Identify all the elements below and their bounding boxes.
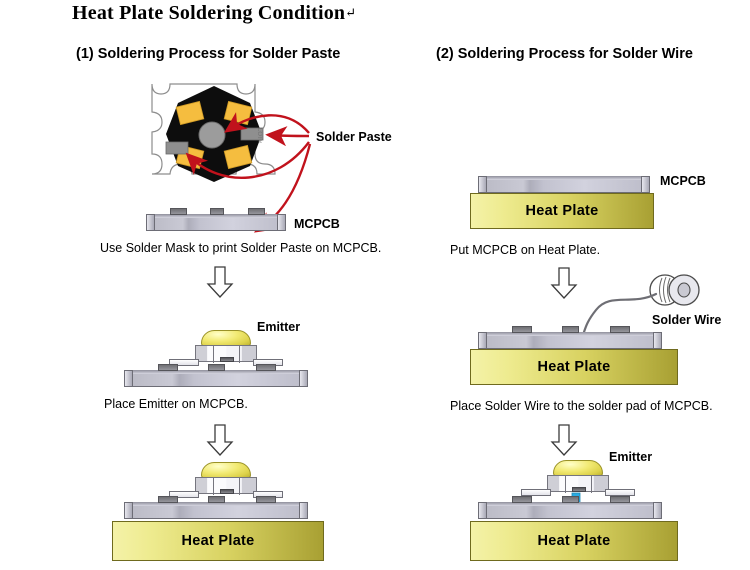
mcpcb-edge-left — [124, 502, 133, 519]
solder-wire-label: Solder Wire — [652, 313, 721, 327]
star-mcpcb-top-view-icon: LOT# — [146, 78, 282, 190]
mcpcb-solder-pad — [562, 326, 579, 333]
mcpcb-solder-pad — [610, 326, 630, 333]
mcpcb-edge-left — [478, 332, 487, 349]
mcpcb-label-r-step1: MCPCB — [660, 174, 706, 188]
mcpcb-solder-pad — [256, 364, 276, 371]
mcpcb-edge-right — [641, 176, 650, 193]
mcpcb-solder-pad — [158, 496, 178, 503]
heat-plate-label: Heat Plate — [525, 203, 598, 219]
pilcrow-mark: ↵ — [345, 5, 356, 20]
heat-plate-label: Heat Plate — [537, 359, 610, 375]
mcpcb-edge-left — [478, 502, 487, 519]
mcpcb-solder-pad — [158, 364, 178, 371]
column-1-heading: (1) Soldering Process for Solder Paste — [76, 46, 340, 62]
mcpcb-solder-pad — [256, 496, 276, 503]
mcpcb-solder-pad — [512, 326, 532, 333]
column-2-heading: (2) Soldering Process for Solder Wire — [436, 46, 693, 62]
mcpcb-solder-pad — [512, 496, 532, 503]
heat-plate-r-step1: Heat Plate — [470, 193, 654, 229]
mcpcb-top-strip — [479, 176, 649, 180]
caption-step1-col2: Put MCPCB on Heat Plate. — [450, 243, 600, 257]
caption-step1-col1: Use Solder Mask to print Solder Paste on… — [100, 241, 381, 255]
mcpcb-solder-pad — [562, 496, 579, 503]
heat-plate-label: Heat Plate — [181, 533, 254, 549]
emitter-lead-left — [521, 489, 551, 496]
mcpcb-edge-right — [299, 370, 308, 387]
mcpcb-edge-right — [277, 214, 286, 231]
emitter-thermal-pad — [220, 357, 234, 362]
caption-step2-col1: Place Emitter on MCPCB. — [104, 397, 248, 411]
mcpcb-solder-pad — [170, 208, 187, 215]
mcpcb-edge-left — [478, 176, 487, 193]
emitter-thermal-pad — [220, 489, 234, 494]
mcpcb-cross-section-r-step3 — [478, 496, 662, 522]
mcpcb-cross-section-step1 — [146, 208, 286, 234]
heat-plate-r-step3: Heat Plate — [470, 521, 678, 561]
flow-arrow-icon — [549, 423, 579, 457]
mcpcb-solder-pad — [208, 364, 225, 371]
svg-text:LOT#: LOT# — [256, 128, 262, 144]
heat-plate-step3-col1: Heat Plate — [112, 521, 324, 561]
mcpcb-cross-section-step3 — [124, 496, 308, 522]
emitter-lead-right — [605, 489, 635, 496]
mcpcb-edge-right — [299, 502, 308, 519]
mcpcb-solder-pad — [248, 208, 265, 215]
emitter-label-r-step3: Emitter — [609, 450, 652, 464]
mcpcb-cross-section-step2 — [124, 364, 308, 390]
caption-step2-col2: Place Solder Wire to the solder pad of M… — [450, 399, 713, 413]
mcpcb-edge-right — [653, 502, 662, 519]
flow-arrow-icon — [205, 423, 235, 457]
mcpcb-solder-pad — [210, 208, 224, 215]
mcpcb-solder-pad — [208, 496, 225, 503]
mcpcb-solder-pad — [610, 496, 630, 503]
mcpcb-edge-left — [124, 370, 133, 387]
heat-plate-r-step2: Heat Plate — [470, 349, 678, 385]
emitter-label-step2: Emitter — [257, 320, 300, 334]
mcpcb-label-step1: MCPCB — [294, 217, 340, 231]
mcpcb-edge-left — [146, 214, 155, 231]
mcpcb-edge-right — [653, 332, 662, 349]
page-title-text: Heat Plate Soldering Condition — [72, 2, 345, 24]
heat-plate-label: Heat Plate — [537, 533, 610, 549]
flow-arrow-icon — [205, 265, 235, 299]
page-title: Heat Plate Soldering Condition↵ — [72, 2, 356, 25]
solder-paste-label: Solder Paste — [316, 130, 392, 144]
